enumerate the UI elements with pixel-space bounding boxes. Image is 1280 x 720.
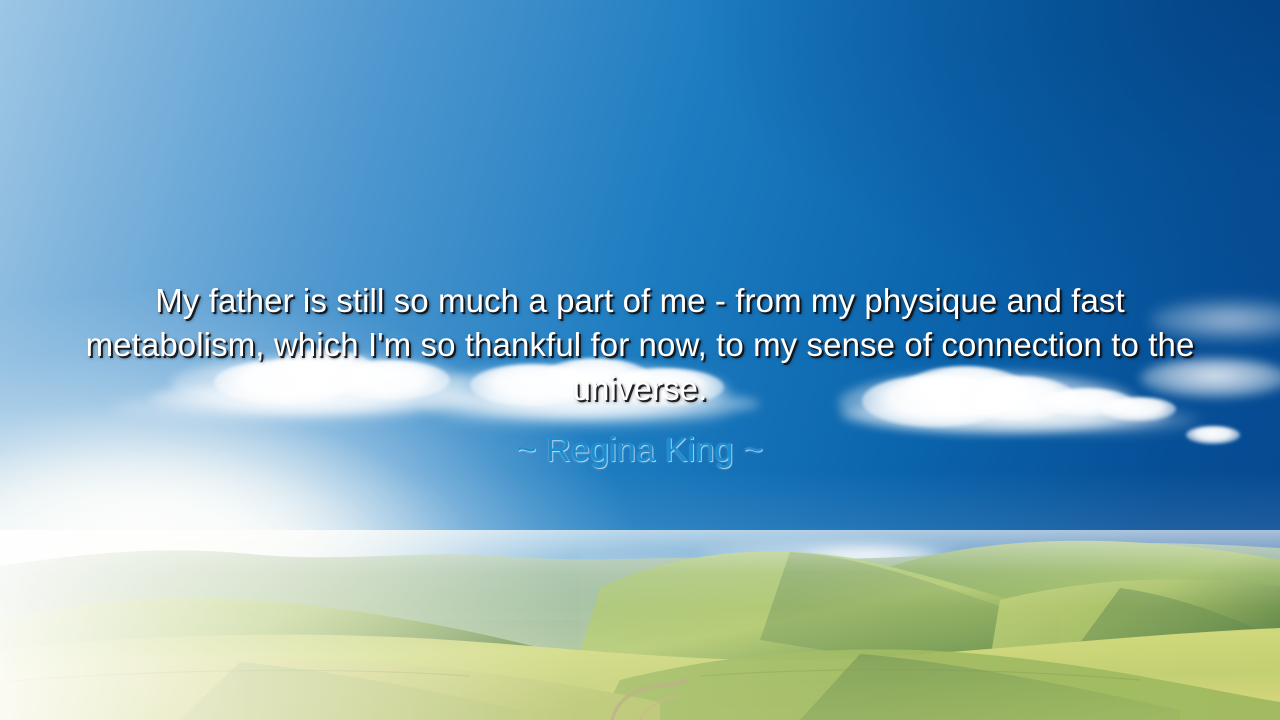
quote-card: My father is still so much a part of me … xyxy=(0,0,1280,720)
text-overlay: My father is still so much a part of me … xyxy=(0,0,1280,720)
quote-attribution: ~ Regina King ~ xyxy=(517,428,764,472)
quote-text: My father is still so much a part of me … xyxy=(75,279,1205,411)
